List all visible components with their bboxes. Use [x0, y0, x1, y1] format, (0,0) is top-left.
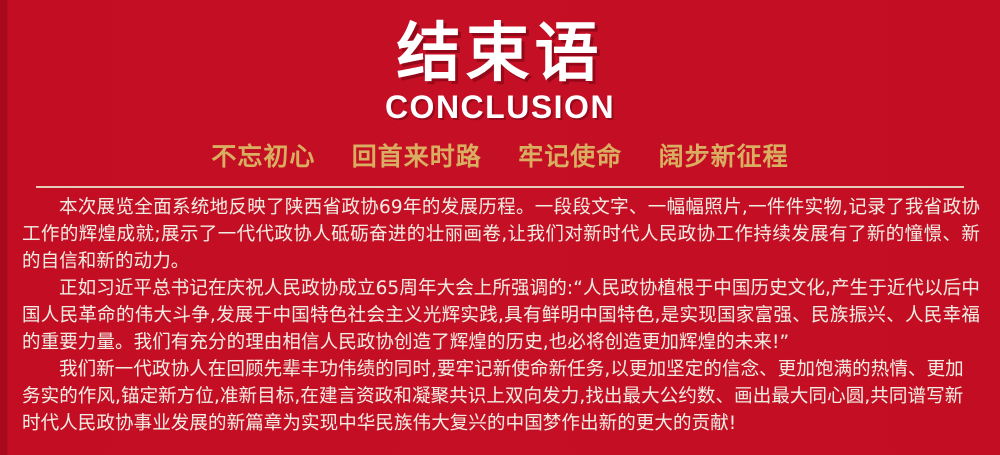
- page-title-english: CONCLUSION: [0, 89, 1000, 124]
- paragraph-2: 正如习近平总书记在庆祝人民政协成立65周年大会上所强调的:“人民政协植根于中国历…: [22, 275, 980, 356]
- poster-header: 结束语 CONCLUSION 不忘初心 回首来时路 牢记使命 阔步新征程: [0, 0, 1000, 172]
- conclusion-poster: 结束语 CONCLUSION 不忘初心 回首来时路 牢记使命 阔步新征程 本次展…: [0, 0, 1000, 455]
- poster-subtitle: 不忘初心 回首来时路 牢记使命 阔步新征程: [0, 124, 1000, 172]
- page-title-chinese: 结束语: [0, 0, 1000, 89]
- subtitle-part-2: 回首来时路: [352, 142, 482, 171]
- paragraph-3: 我们新一代政协人在回顾先辈丰功伟绩的同时,要牢记新使命新任务,以更加坚定的信念、…: [22, 356, 980, 437]
- subtitle-part-4: 阔步新征程: [659, 142, 789, 171]
- body-copy: 本次展览全面系统地反映了陕西省政协69年的发展历程。一段段文字、一幅幅照片,一件…: [22, 194, 980, 437]
- paragraph-1: 本次展览全面系统地反映了陕西省政协69年的发展历程。一段段文字、一幅幅照片,一件…: [22, 194, 980, 275]
- subtitle-part-1: 不忘初心: [211, 142, 315, 171]
- header-divider-line: [36, 186, 964, 188]
- subtitle-part-3: 牢记使命: [518, 142, 622, 171]
